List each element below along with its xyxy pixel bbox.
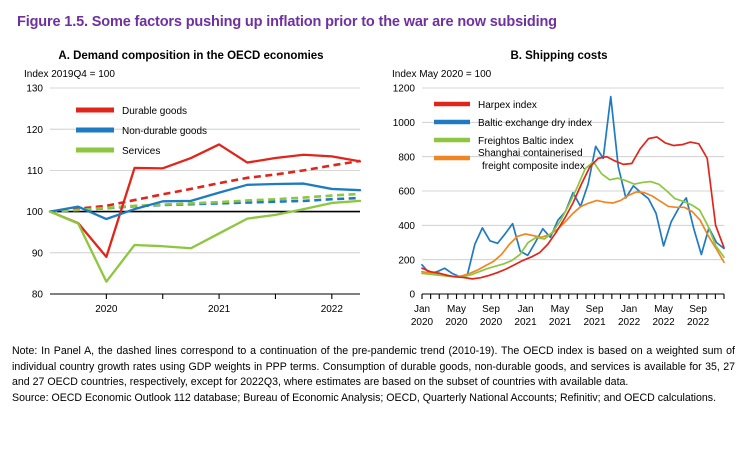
panel-a: A. Demand composition in the OECD econom… (8, 48, 374, 332)
panel-b-legend-label: Freightos Baltic index (478, 136, 574, 147)
panel-a-series-1 (50, 184, 360, 219)
panel-a-xtick: 2021 (208, 304, 231, 315)
source-text: Source: OECD Economic Outlook 112 databa… (12, 391, 735, 407)
panel-b-xtick-year: 2022 (618, 317, 641, 328)
panel-b-xtick-year: 2021 (514, 317, 537, 328)
panel-b-xtick-year: 2022 (687, 317, 710, 328)
panel-a-ytick: 100 (26, 207, 43, 218)
figure-notes: Note: In Panel A, the dashed lines corre… (12, 344, 735, 406)
panel-a-legend-label: Non-durable goods (122, 126, 207, 137)
panel-b-ytick: 0 (409, 290, 415, 301)
figure-title: Figure 1.5. Some factors pushing up infl… (17, 14, 557, 30)
panel-a-xtick: 2020 (95, 304, 118, 315)
panel-b-xtick-month: Sep (482, 304, 500, 315)
panel-b-legend-label-cont: freight composite index (482, 161, 585, 172)
panel-b-xtick-year: 2022 (652, 317, 675, 328)
panel-b-xtick-year: 2020 (445, 317, 468, 328)
panel-b-plot: 020040060080010001200Jan2020May2020Sep20… (376, 82, 742, 332)
panel-a-axis-unit: Index 2019Q4 = 100 (24, 68, 374, 82)
panel-b-axis-unit: Index May 2020 = 100 (392, 68, 742, 82)
panel-b-xtick-month: May (551, 304, 570, 315)
panel-b-xtick-year: 2020 (480, 317, 503, 328)
panel-b-xtick-month: May (654, 304, 673, 315)
panel-b-ytick: 600 (398, 187, 415, 198)
panel-b-title: B. Shipping costs (376, 48, 742, 64)
panel-b-xtick-month: Jan (517, 304, 533, 315)
panel-b-legend-label: Shanghai containerised (478, 148, 583, 159)
panel-b-ytick: 200 (398, 255, 415, 266)
panel-b-xtick-year: 2021 (549, 317, 572, 328)
panel-a-ytick: 130 (26, 84, 43, 95)
panel-a-ytick: 110 (27, 166, 43, 177)
panel-b: B. Shipping costs Index May 2020 = 100 0… (376, 48, 742, 332)
panel-a-title: A. Demand composition in the OECD econom… (8, 48, 374, 64)
panel-b-xtick-month: May (447, 304, 466, 315)
panel-b-svg: 020040060080010001200Jan2020May2020Sep20… (376, 82, 742, 332)
panel-a-svg: 8090100110120130202020212022Durable good… (8, 82, 374, 332)
note-text: Note: In Panel A, the dashed lines corre… (12, 344, 735, 391)
panel-a-legend-label: Durable goods (122, 106, 187, 117)
panel-b-ytick: 400 (398, 221, 415, 232)
panel-b-ytick: 800 (398, 152, 415, 163)
panel-a-plot: 8090100110120130202020212022Durable good… (8, 82, 374, 332)
panel-a-ytick: 90 (32, 248, 44, 259)
panel-a-ytick: 80 (32, 290, 44, 301)
panel-b-xtick-month: Jan (414, 304, 430, 315)
panel-b-ytick: 1200 (393, 84, 416, 95)
panel-a-ytick: 120 (26, 125, 43, 136)
panel-a-series-2 (50, 201, 360, 282)
panel-b-ytick: 1000 (393, 118, 416, 129)
panel-b-xtick-year: 2021 (583, 317, 606, 328)
panel-b-xtick-month: Sep (586, 304, 604, 315)
panel-b-legend-label: Harpex index (478, 100, 537, 111)
panel-b-legend-label: Baltic exchange dry index (478, 118, 592, 129)
panel-a-xtick: 2022 (321, 304, 344, 315)
panel-b-xtick-month: Sep (689, 304, 707, 315)
panel-a-legend-label: Services (122, 146, 160, 157)
panel-b-xtick-month: Jan (621, 304, 637, 315)
panel-b-xtick-year: 2020 (411, 317, 434, 328)
